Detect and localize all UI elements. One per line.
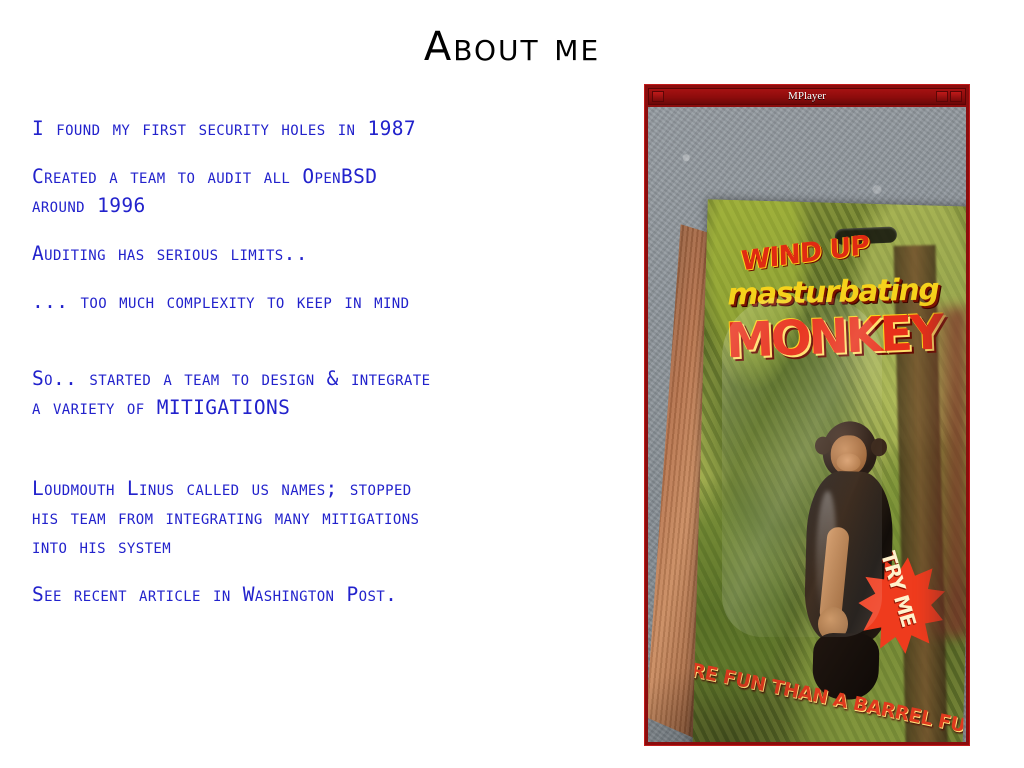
bullet-paragraph-1: I found my first security holes in 1987 [32,114,632,143]
mplayer-window-title: MPlayer [649,89,965,104]
bullet-paragraph-5: So.. started a team to design & integrat… [32,364,632,422]
package-headline-windup: WIND UP [740,230,869,278]
floor-shadow [648,662,848,742]
minimize-button[interactable] [936,91,948,102]
mplayer-video-area[interactable]: WIND UP masturbating MONKEY TRY ME RE FU… [648,107,966,742]
spacer [32,561,632,580]
package-headline-monkey: MONKEY [725,304,943,369]
bullet-paragraph-7: See recent article in Washington Post. [32,580,632,609]
bullet-paragraph-6: Loudmouth Linus called us names; stopped… [32,474,632,561]
monkey-ear-right [871,438,887,456]
close-button[interactable] [950,91,962,102]
spacer [32,220,632,239]
mplayer-window[interactable]: MPlayer WIND UP masturbating MONKEY [644,84,970,746]
mplayer-titlebar[interactable]: MPlayer [648,88,966,105]
bullet-line: Loudmouth Linus called us names; stopped [32,474,632,503]
foreground-blur-object [922,307,966,637]
bullet-paragraph-2: Created a team to audit all OpenBSD arou… [32,162,632,220]
page-title: About me [0,24,1024,70]
bullet-line: around 1996 [32,191,632,220]
spacer [32,316,632,364]
bullet-line: See recent article in Washington Post. [32,580,632,609]
bullet-line: So.. started a team to design & integrat… [32,364,632,393]
bullet-line: his team from integrating many mitigatio… [32,503,632,532]
bullet-line: into his system [32,532,632,561]
spacer [32,422,632,474]
window-menu-button[interactable] [652,91,664,102]
spacer [32,268,632,287]
bullet-paragraph-4: ... too much complexity to keep in mind [32,287,632,316]
bullet-line: I found my first security holes in 1987 [32,114,632,143]
bullet-paragraph-3: Auditing has serious limits.. [32,239,632,268]
titlebar-button-group [934,91,962,102]
slide-body: I found my first security holes in 1987 … [32,114,632,609]
bullet-line: ... too much complexity to keep in mind [32,287,632,316]
bullet-line: Auditing has serious limits.. [32,239,632,268]
bullet-line: a variety of MITIGATIONS [32,393,632,422]
spacer [32,143,632,162]
bullet-line: Created a team to audit all OpenBSD [32,162,632,191]
